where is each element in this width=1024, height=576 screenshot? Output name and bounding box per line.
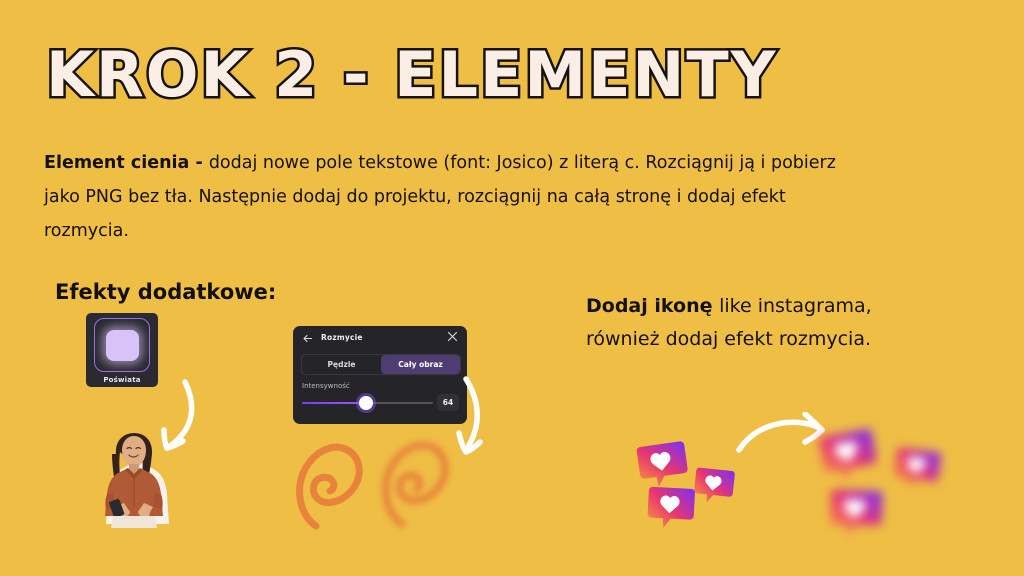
- intensity-slider-fill: [302, 402, 367, 404]
- right-lead-bold: Dodaj ikonę: [586, 295, 719, 317]
- instagram-like-badge-blurred-2: [890, 443, 943, 496]
- tab-brush[interactable]: Pędzle: [302, 355, 381, 374]
- blur-mode-tabs: Pędzle Cały obraz: [301, 354, 461, 375]
- section-heading-effects: Efekty dodatkowe:: [55, 280, 276, 304]
- close-icon[interactable]: [447, 331, 459, 343]
- glow-card-label: Poświata: [103, 376, 140, 384]
- arrow-left-icon[interactable]: [302, 333, 313, 344]
- tab-whole-image[interactable]: Cały obraz: [381, 355, 460, 374]
- body-paragraph: Element cienia - dodaj nowe pole tekstow…: [44, 146, 874, 248]
- arrow-down-right-icon: [452, 375, 510, 471]
- swirl-shape-blurred: [378, 438, 456, 534]
- page-title: kROK 2 - ELEMENTY: [46, 44, 778, 106]
- right-instruction-text: Dodaj ikonę like instagrama, również dod…: [586, 290, 926, 357]
- slide-canvas: kROK 2 - ELEMENTY Element cienia - dodaj…: [0, 0, 1024, 576]
- blur-settings-panel: Rozmycie Pędzle Cały obraz Intensywność …: [293, 326, 467, 424]
- arrow-curve-right-icon: [735, 412, 827, 472]
- glow-effect-card[interactable]: Poświata: [86, 313, 158, 387]
- glow-swatch-icon: [106, 330, 139, 361]
- instagram-like-badge-blurred-3: [827, 485, 885, 543]
- swirl-shape-sharp: [292, 440, 370, 536]
- intensity-label: Intensywność: [302, 382, 350, 390]
- intensity-slider[interactable]: [302, 402, 433, 404]
- arrow-down-left-icon: [140, 378, 202, 468]
- instagram-like-badge-sharp-2: [691, 464, 737, 510]
- body-lead-bold: Element cienia -: [44, 153, 209, 173]
- glow-preview-frame: [94, 318, 150, 372]
- blur-panel-header: Rozmycie: [293, 326, 467, 350]
- instagram-like-badge-blurred-1: [815, 423, 882, 490]
- blur-panel-title: Rozmycie: [321, 333, 363, 342]
- intensity-slider-knob[interactable]: [359, 396, 373, 410]
- instagram-like-badge-sharp-3: [645, 483, 698, 536]
